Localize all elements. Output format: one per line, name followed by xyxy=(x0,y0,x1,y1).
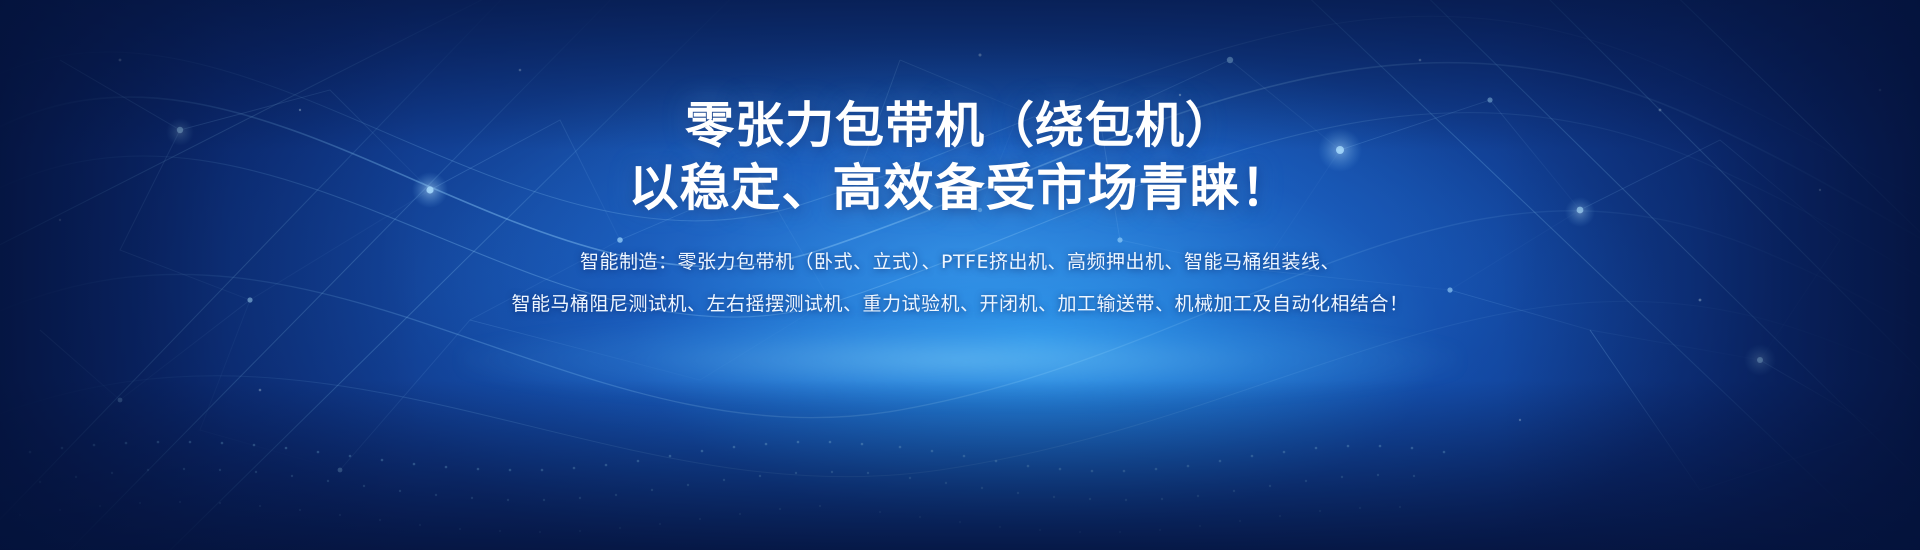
hero-banner: 零张力包带机（绕包机） 以稳定、高效备受市场青睐！ 智能制造：零张力包带机（卧式… xyxy=(0,0,1920,550)
subtitle-line-2: 智能马桶阻尼测试机、左右摇摆测试机、重力试验机、开闭机、加工输送带、机械加工及自… xyxy=(511,283,1408,325)
subtitle-line-1: 智能制造：零张力包带机（卧式、立式）、PTFE挤出机、高频押出机、智能马桶组装线… xyxy=(511,241,1408,283)
headline-line-2: 以稳定、高效备受市场青睐！ xyxy=(629,157,1292,219)
banner-subtitle: 智能制造：零张力包带机（卧式、立式）、PTFE挤出机、高频押出机、智能马桶组装线… xyxy=(511,241,1408,325)
banner-content: 零张力包带机（绕包机） 以稳定、高效备受市场青睐！ 智能制造：零张力包带机（卧式… xyxy=(0,0,1920,550)
banner-headline: 零张力包带机（绕包机） 以稳定、高效备受市场青睐！ xyxy=(629,95,1292,219)
headline-line-1: 零张力包带机（绕包机） xyxy=(629,95,1292,157)
